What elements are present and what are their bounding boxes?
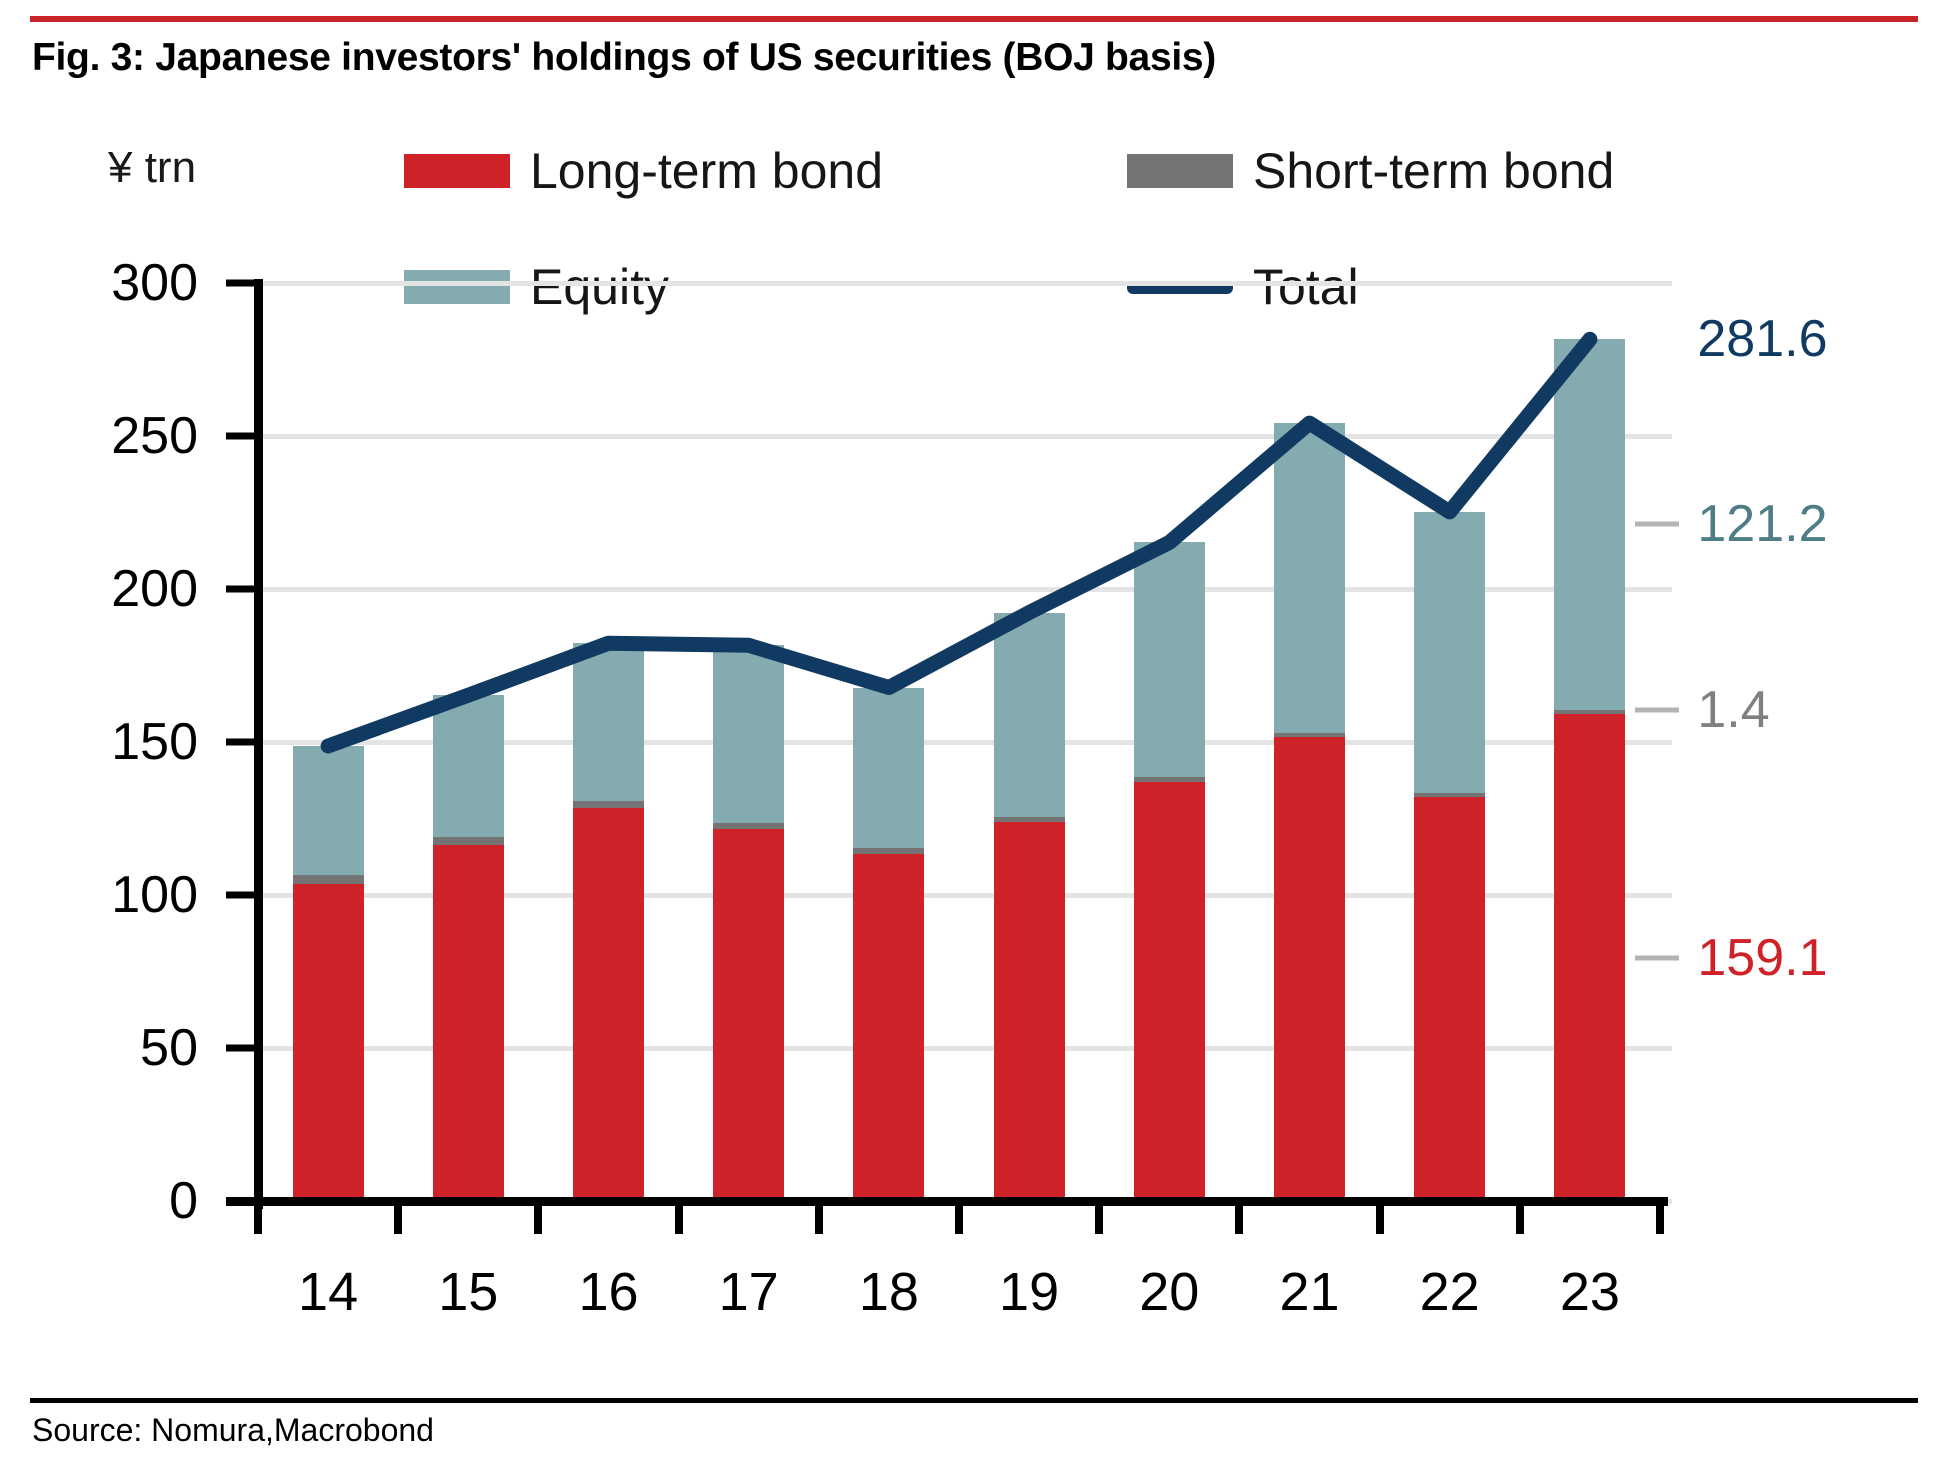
legend-swatch-long-term-bond <box>404 154 510 188</box>
x-axis-tick <box>675 1206 683 1234</box>
bar-segment[interactable] <box>433 837 504 845</box>
x-axis-tick-label: 19 <box>999 1261 1059 1323</box>
legend-item-short-term-bond[interactable]: Short-term bond <box>1127 146 1614 196</box>
x-axis-tick-label: 23 <box>1560 1261 1620 1323</box>
y-axis-tick <box>226 739 254 746</box>
bar-segment[interactable] <box>1554 714 1625 1201</box>
x-axis-tick <box>1516 1206 1524 1234</box>
y-axis-spine <box>254 279 263 1209</box>
x-axis-tick-label: 14 <box>298 1261 358 1323</box>
value-callout-label: 281.6 <box>1697 309 1827 369</box>
y-axis-tick <box>226 892 254 899</box>
y-axis-tick-label: 0 <box>38 1171 198 1231</box>
legend-label-equity: Equity <box>530 262 669 312</box>
bar-segment[interactable] <box>853 854 924 1201</box>
legend-item-equity[interactable]: Equity <box>404 262 669 312</box>
bar-segment[interactable] <box>713 823 784 829</box>
bar-segment[interactable] <box>853 688 924 849</box>
y-axis-unit-label: ¥ trn <box>108 143 196 193</box>
x-axis-tick <box>254 1206 262 1234</box>
bar-segment[interactable] <box>1554 339 1625 710</box>
value-callout-label: 121.2 <box>1697 494 1827 554</box>
y-axis-tick-label: 250 <box>38 406 198 466</box>
x-axis-tick <box>1656 1206 1664 1234</box>
y-axis-tick-label: 200 <box>38 559 198 619</box>
x-axis-tick <box>1095 1206 1103 1234</box>
value-callout-label: 159.1 <box>1697 928 1827 988</box>
y-axis-tick <box>226 280 254 287</box>
y-axis-tick <box>226 1045 254 1052</box>
bar-segment[interactable] <box>573 808 644 1201</box>
bar-segment[interactable] <box>293 884 364 1201</box>
legend-item-total[interactable]: Total <box>1127 262 1359 312</box>
bar-segment[interactable] <box>1554 710 1625 714</box>
x-axis-tick-label: 17 <box>719 1261 779 1323</box>
callout-leader-line <box>1635 955 1679 960</box>
bar-segment[interactable] <box>433 695 504 837</box>
bottom-rule <box>30 1398 1918 1403</box>
legend-item-long-term-bond[interactable]: Long-term bond <box>404 146 883 196</box>
bar-segment[interactable] <box>1134 542 1205 777</box>
bar-segment[interactable] <box>994 817 1065 823</box>
legend-label-long-term-bond: Long-term bond <box>530 146 883 196</box>
bar-segment[interactable] <box>994 822 1065 1201</box>
y-axis-tick-label: 50 <box>38 1018 198 1078</box>
bar-segment[interactable] <box>1274 737 1345 1201</box>
x-axis-spine <box>226 1197 1668 1206</box>
total-line-path <box>328 339 1590 746</box>
callout-leader-line <box>1635 707 1679 712</box>
x-axis-tick <box>534 1206 542 1234</box>
x-axis-tick-label: 18 <box>859 1261 919 1323</box>
x-axis-tick <box>1235 1206 1243 1234</box>
x-axis-tick <box>955 1206 963 1234</box>
legend-swatch-equity <box>404 270 510 304</box>
bar-segment[interactable] <box>1414 512 1485 793</box>
bar-segment[interactable] <box>433 845 504 1201</box>
x-axis-tick-label: 15 <box>438 1261 498 1323</box>
value-callout-label: 1.4 <box>1697 680 1769 740</box>
y-axis-tick-label: 150 <box>38 712 198 772</box>
legend-label-total: Total <box>1253 262 1359 312</box>
x-axis-tick <box>394 1206 402 1234</box>
gridline <box>258 434 1672 439</box>
bar-segment[interactable] <box>1134 777 1205 782</box>
x-axis-tick <box>1376 1206 1384 1234</box>
y-axis-tick-label: 100 <box>38 865 198 925</box>
bar-segment[interactable] <box>573 801 644 808</box>
bar-segment[interactable] <box>713 645 784 823</box>
y-axis-tick-label: 300 <box>38 253 198 313</box>
legend-swatch-short-term-bond <box>1127 154 1233 188</box>
bar-segment[interactable] <box>293 746 364 875</box>
x-axis-tick-label: 16 <box>578 1261 638 1323</box>
bar-segment[interactable] <box>1274 423 1345 733</box>
bar-segment[interactable] <box>713 829 784 1201</box>
source-note: Source: Nomura,Macrobond <box>32 1412 434 1449</box>
bar-segment[interactable] <box>1414 793 1485 797</box>
bar-segment[interactable] <box>1134 782 1205 1201</box>
bar-segment[interactable] <box>853 848 924 854</box>
x-axis-tick-label: 21 <box>1279 1261 1339 1323</box>
x-axis-tick <box>815 1206 823 1234</box>
bar-segment[interactable] <box>994 613 1065 817</box>
gridline <box>258 281 1672 286</box>
bar-segment[interactable] <box>293 875 364 884</box>
x-axis-tick-label: 22 <box>1420 1261 1480 1323</box>
bar-segment[interactable] <box>1274 733 1345 738</box>
bar-segment[interactable] <box>573 643 644 801</box>
bar-segment[interactable] <box>1414 797 1485 1201</box>
y-axis-tick <box>226 586 254 593</box>
legend-label-short-term-bond: Short-term bond <box>1253 146 1614 196</box>
x-axis-tick-label: 20 <box>1139 1261 1199 1323</box>
y-axis-tick <box>226 433 254 440</box>
chart-canvas: ¥ trn Long-term bond Short-term bond Equ… <box>0 0 1948 1340</box>
callout-leader-line <box>1635 522 1679 527</box>
